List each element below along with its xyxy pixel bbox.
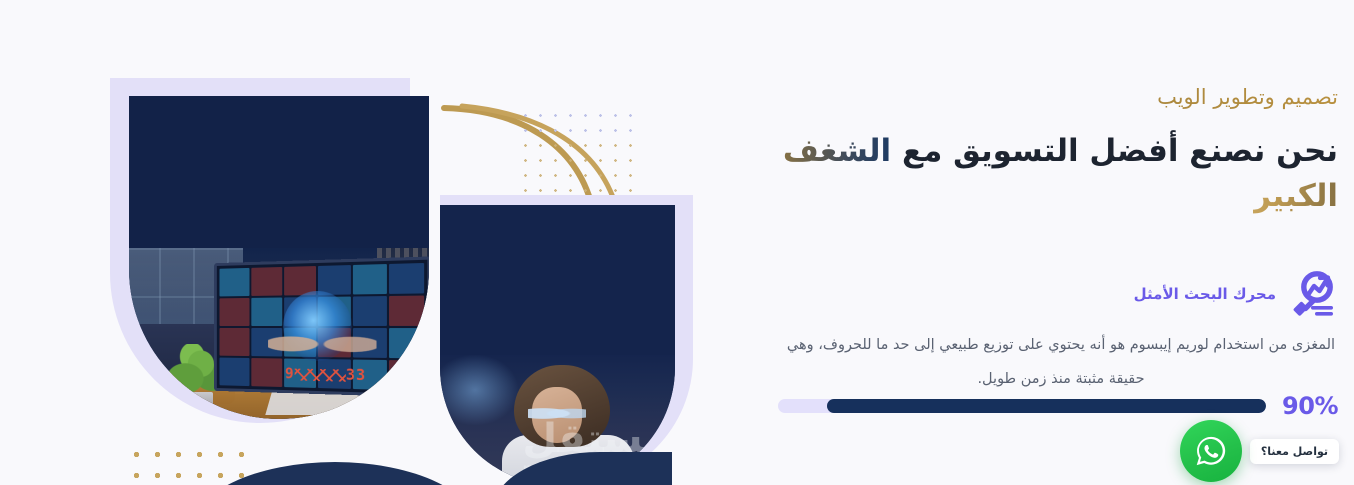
- image-woman-working: مستقل mostaql.com: [440, 205, 675, 485]
- dot-grid-blue-top: [518, 108, 642, 138]
- whatsapp-widget[interactable]: تواصل معنا؟: [1180, 420, 1339, 482]
- dashboard-tile: [389, 296, 424, 326]
- dashboard-tile: [220, 328, 250, 356]
- progress-value: 90%: [1282, 392, 1338, 420]
- photo-two-overlay: [440, 205, 675, 355]
- page-title: نحن نصنع أفضل التسويق مع الشغف الكبير: [738, 129, 1338, 219]
- whatsapp-button[interactable]: [1180, 420, 1242, 482]
- hero-eyebrow: تصميم وتطوير الويب: [738, 84, 1338, 111]
- progress-bar-fill: [827, 399, 1266, 413]
- image-office-monitor: 339: [129, 96, 429, 419]
- feature-description: المغزى من استخدام لوريم إيبسوم هو أنه يح…: [778, 328, 1338, 396]
- feature-title: محرك البحث الأمثل: [1134, 285, 1276, 303]
- feature-heading-row: محرك البحث الأمثل: [778, 268, 1338, 320]
- plant-pot: [183, 392, 213, 416]
- feature-block: محرك البحث الأمثل المغزى من استخدام لوري…: [778, 268, 1338, 396]
- dashboard-tile: [220, 298, 250, 326]
- photo-one-overlay: [129, 96, 429, 248]
- headline-lead: نحن نصنع أفضل التسويق مع: [902, 133, 1338, 169]
- presenter-hands: [268, 321, 376, 364]
- photo-one-scene: 339: [129, 96, 429, 419]
- photo-two-scene: [440, 205, 675, 485]
- glasses-icon: [528, 405, 586, 422]
- waveform-icon: [295, 368, 346, 381]
- hero-visuals: 339: [0, 0, 760, 485]
- hero-content: تصميم وتطوير الويب نحن نصنع أفضل التسويق…: [738, 0, 1338, 485]
- hero-section: 339: [0, 0, 1354, 485]
- dashboard-tile: [389, 328, 424, 358]
- dashboard-tile: [389, 360, 424, 391]
- dashboard-readout: 339: [222, 361, 366, 386]
- dashboard-tile: [389, 263, 424, 294]
- dashboard-tile: [353, 264, 387, 294]
- dot-grid-gold-bottom: [126, 444, 246, 485]
- progress-row: 90%: [778, 392, 1338, 420]
- dashboard-tile: [251, 267, 282, 296]
- office-monitor: 339: [214, 256, 429, 397]
- whatsapp-icon: [1193, 433, 1229, 469]
- progress-bar[interactable]: [778, 399, 1266, 413]
- whatsapp-tooltip: تواصل معنا؟: [1250, 439, 1339, 464]
- dashboard-tile: [220, 268, 250, 297]
- seo-magnifier-trend-icon: [1286, 268, 1338, 320]
